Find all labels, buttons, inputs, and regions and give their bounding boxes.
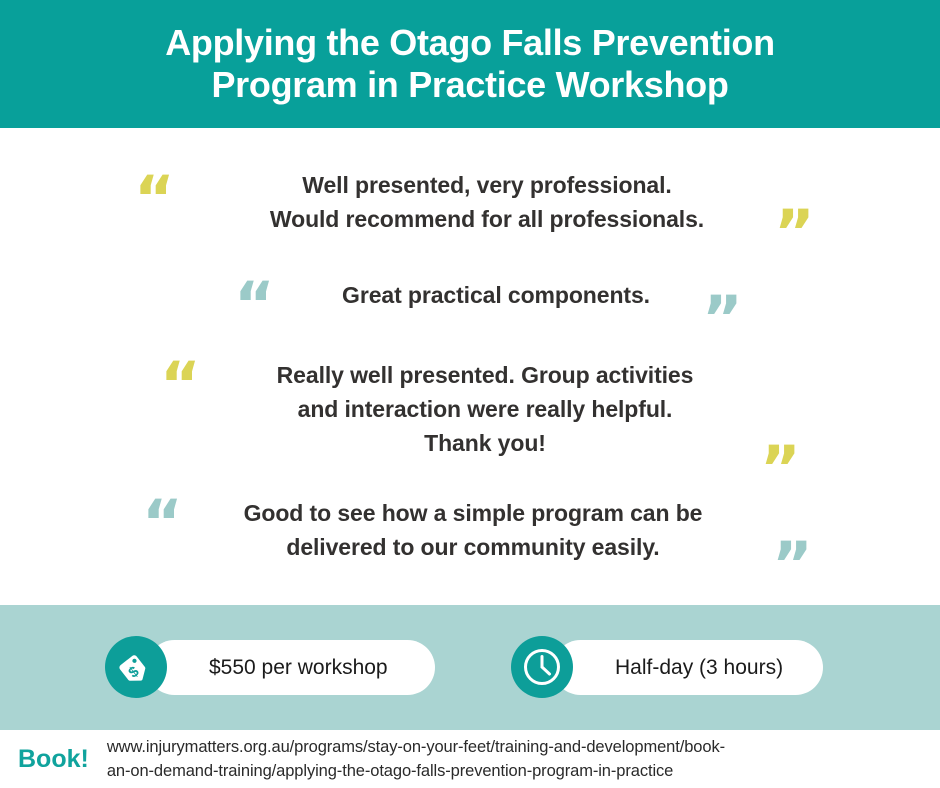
page-title: Applying the Otago Falls Prevention Prog… — [30, 22, 910, 107]
duration-pill: Half-day (3 hours) — [553, 640, 823, 695]
testimonial-text: Great practical components. — [290, 278, 702, 312]
booking-url[interactable]: www.injurymatters.org.au/programs/stay-o… — [107, 735, 897, 784]
price-tag-icon: $ — [105, 636, 167, 698]
quote-close-icon — [760, 438, 801, 500]
book-label: Book! — [18, 745, 89, 774]
testimonial-text: Good to see how a simple program can be … — [196, 496, 750, 564]
quote-open-icon — [142, 492, 183, 554]
quote-close-icon — [772, 534, 813, 596]
quote-open-icon — [234, 274, 275, 336]
quote-close-icon — [774, 202, 815, 264]
info-band: $550 per workshop $ Half-day (3 hours) — [0, 605, 940, 730]
testimonial-text: Well presented, very professional. Would… — [192, 168, 782, 236]
testimonials-section: Well presented, very professional. Would… — [0, 128, 940, 605]
testimonial-item: Really well presented. Group activities … — [212, 358, 758, 460]
duration-label: Half-day (3 hours) — [615, 656, 783, 680]
price-pill: $550 per workshop — [147, 640, 435, 695]
testimonial-item: Well presented, very professional. Would… — [192, 168, 782, 236]
testimonial-text: Really well presented. Group activities … — [212, 358, 758, 460]
quote-open-icon — [160, 354, 201, 416]
clock-icon — [511, 636, 573, 698]
page-header: Applying the Otago Falls Prevention Prog… — [0, 0, 940, 128]
price-label: $550 per workshop — [209, 656, 388, 680]
testimonial-item: Great practical components. — [290, 278, 702, 312]
footer: Book! www.injurymatters.org.au/programs/… — [0, 730, 940, 788]
quote-close-icon — [702, 288, 743, 350]
quote-open-icon — [134, 168, 175, 230]
testimonial-item: Good to see how a simple program can be … — [196, 496, 750, 564]
